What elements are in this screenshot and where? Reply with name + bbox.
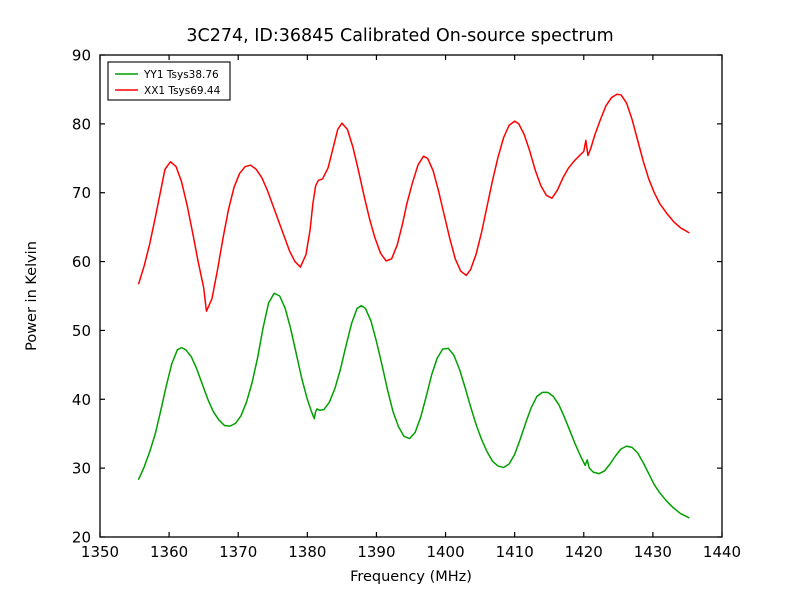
y-tick-label: 70: [72, 184, 91, 202]
y-tick-label: 60: [72, 253, 91, 271]
figure-canvas: 3C274, ID:36845 Calibrated On-source spe…: [0, 0, 800, 600]
legend-label-xx1: XX1 Tsys69.44: [144, 85, 221, 97]
plot-area: 1350136013701380139014001410142014301440…: [0, 0, 800, 600]
x-tick-label: 1440: [703, 543, 741, 561]
x-tick-label: 1420: [565, 543, 603, 561]
x-tick-label: 1360: [150, 543, 188, 561]
x-axis-label: Frequency (MHz): [350, 569, 472, 585]
x-tick-label: 1380: [288, 543, 326, 561]
y-tick-label: 30: [72, 460, 91, 478]
y-tick-label: 80: [72, 115, 91, 133]
x-tick-label: 1410: [496, 543, 534, 561]
y-tick-label: 20: [72, 529, 91, 547]
legend-label-yy1: YY1 Tsys38.76: [143, 69, 219, 81]
axes-frame: [100, 55, 722, 537]
y-tick-label: 90: [72, 47, 91, 65]
y-tick-label: 40: [72, 391, 91, 409]
x-tick-label: 1370: [219, 543, 257, 561]
y-axis-label: Power in Kelvin: [24, 241, 40, 351]
x-tick-label: 1430: [634, 543, 672, 561]
x-tick-label: 1390: [357, 543, 395, 561]
series-line-yy1: [139, 293, 689, 517]
y-tick-label: 50: [72, 322, 91, 340]
x-tick-label: 1400: [426, 543, 464, 561]
series-line-xx1: [139, 94, 689, 311]
